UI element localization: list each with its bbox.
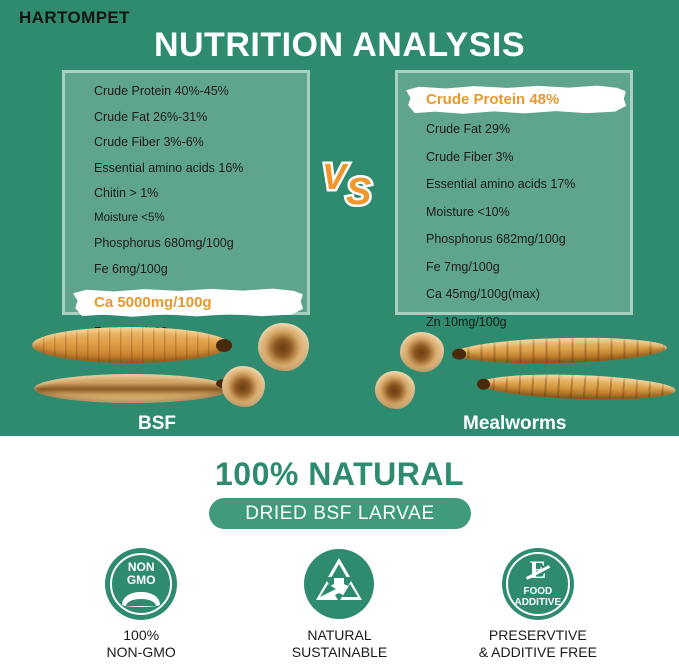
nutrition-row-label: Crude Protein 48%: [426, 91, 559, 108]
versus-letter-s: S: [346, 171, 371, 214]
badge-caption-line2: SUSTAINABLE: [292, 644, 387, 660]
nutrition-row: Crude Fiber 3%: [398, 151, 630, 164]
recycle-icon: [303, 548, 375, 620]
bsf-larva-photo: [34, 374, 230, 403]
badge-non-gmo: NON GMO 100% NON-GMO: [56, 548, 226, 661]
nutrition-row: Phosphorus 682mg/100g: [398, 233, 630, 246]
no-food-additive-icon: E FOOD ADDITIVE: [502, 548, 574, 620]
mealworm-head: [477, 378, 490, 389]
nutrition-row-label: Ca 5000mg/100g: [94, 294, 212, 311]
claims-section: 100% NATURAL DRIED BSF LARVAE NON GMO 10…: [0, 436, 679, 666]
bsf-nutrition-list: Crude Protein 40%-45% Crude Fat 26%-31% …: [65, 73, 307, 312]
larva-head: [216, 339, 232, 352]
nutrition-row: Fe 6mg/100g: [65, 263, 307, 276]
mealworm-nutrition-list: Crude Protein 48% Crude Fat 29% Crude Fi…: [398, 73, 630, 312]
seal-text-line1: FOOD: [502, 586, 574, 597]
brand-logo: HARTOMPET: [19, 8, 130, 28]
versus-badge: V S: [322, 158, 384, 220]
badge-natural-sustainable: NATURAL SUSTAINABLE: [254, 548, 424, 661]
badge-caption: 100% NON-GMO: [107, 627, 176, 661]
comparison-section: HARTOMPET NUTRITION ANALYSIS Crude Prote…: [0, 0, 679, 436]
badge-caption-line2: & ADDITIVE FREE: [479, 644, 597, 660]
nutrition-row: Crude Fat 26%-31%: [65, 111, 307, 124]
badge-caption-line2: NON-GMO: [107, 644, 176, 660]
badge-caption-line1: 100%: [123, 627, 159, 643]
mealworm-piece-photo: [375, 371, 415, 409]
badge-caption: PRESERVTIVE & ADDITIVE FREE: [479, 627, 597, 661]
nutrition-row: Chitin > 1%: [65, 187, 307, 200]
nutrition-row-highlighted: Ca 5000mg/100g: [65, 288, 307, 317]
natural-headline: 100% NATURAL: [0, 456, 679, 493]
claim-badges: NON GMO 100% NON-GMO: [0, 548, 679, 661]
badge-caption: NATURAL SUSTAINABLE: [292, 627, 387, 661]
nutrition-row: Ca 45mg/100g(max): [398, 288, 630, 301]
nutrition-row-highlighted: Crude Protein 48%: [398, 85, 630, 114]
nutrition-row: Crude Fat 29%: [398, 123, 630, 136]
nutrition-row: Crude Fiber 3%-6%: [65, 136, 307, 149]
mealworm-piece-photo: [400, 332, 444, 372]
mealworm-photo: [455, 335, 668, 366]
bsf-larva-piece-photo: [222, 366, 265, 407]
nutrition-row: Moisture <10%: [398, 206, 630, 219]
non-gmo-seal-icon: NON GMO: [105, 548, 177, 620]
nutrition-analysis-infographic: HARTOMPET NUTRITION ANALYSIS Crude Prote…: [0, 0, 679, 666]
nutrition-row: Crude Protein 40%-45%: [65, 85, 307, 98]
nutrition-row: Fe 7mg/100g: [398, 261, 630, 274]
versus-letter-v: V: [322, 156, 346, 198]
page-title: NUTRITION ANALYSIS: [0, 26, 679, 65]
bsf-larva-photo: [32, 327, 230, 363]
mealworm-nutrition-panel: Crude Protein 48% Crude Fat 29% Crude Fi…: [395, 70, 633, 315]
nutrition-row: Phosphorus 680mg/100g: [65, 237, 307, 250]
mealworm-photo: [480, 372, 677, 403]
seal-text: NON GMO: [105, 561, 177, 586]
nutrition-row: Moisture <5%: [65, 213, 307, 225]
badge-caption-line1: NATURAL: [307, 627, 371, 643]
product-name-pill: DRIED BSF LARVAE: [209, 498, 471, 529]
nutrition-row: Zn 10mg/100g: [398, 316, 630, 329]
badge-caption-line1: PRESERVTIVE: [489, 627, 587, 643]
bsf-product-label: BSF: [138, 413, 176, 435]
mealworm-product-label: Mealworms: [463, 413, 566, 435]
seal-text-line2: ADDITIVE: [502, 597, 574, 608]
nutrition-row: Essential amino acids 16%: [65, 162, 307, 175]
nutrition-row: Essential amino acids 17%: [398, 178, 630, 191]
mealworm-head: [452, 348, 466, 359]
badge-additive-free: E FOOD ADDITIVE PRESERVTIVE & ADDITIVE F…: [453, 548, 623, 661]
seal-text-line2: GMO: [127, 573, 156, 587]
bsf-nutrition-panel: Crude Protein 40%-45% Crude Fat 26%-31% …: [62, 70, 310, 315]
bsf-larva-piece-photo: [258, 323, 309, 371]
